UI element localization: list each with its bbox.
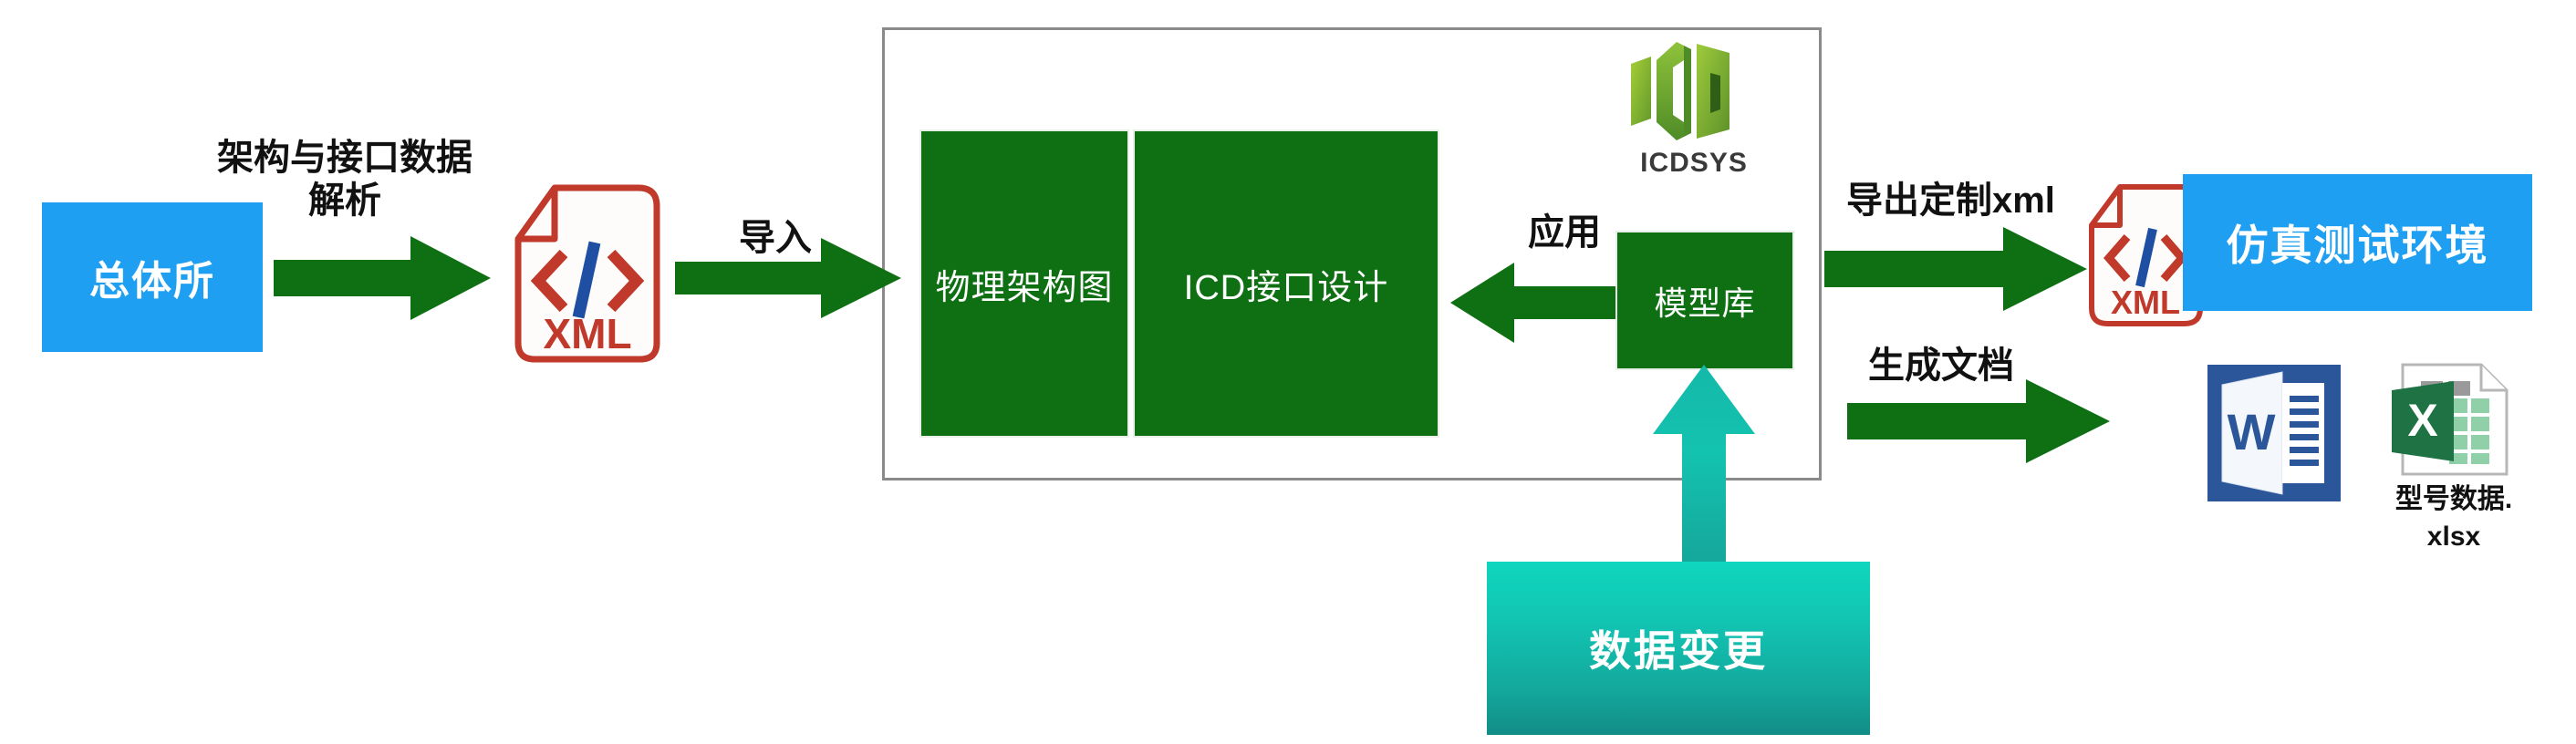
node-icd-interface[interactable]: ICD接口设计 bbox=[1133, 129, 1439, 438]
arrow-import bbox=[675, 232, 903, 324]
node-model-library[interactable]: 模型库 bbox=[1615, 231, 1794, 370]
icdsys-wordmark: ICDSYS bbox=[1640, 148, 1748, 178]
node-excel-doc-letter: X bbox=[2407, 395, 2437, 446]
node-sim-test-env-label: 仿真测试环境 bbox=[2227, 212, 2489, 273]
node-excel-doc-filename: 型号数据. xlsx bbox=[2372, 481, 2536, 555]
node-source-dept-label: 总体所 bbox=[89, 248, 215, 306]
node-excel-doc-filename-line1: 型号数据. bbox=[2372, 481, 2536, 519]
node-model-library-label: 模型库 bbox=[1654, 277, 1755, 325]
arrow-parse bbox=[274, 232, 493, 324]
edge-label-parse: 架构与接口数据 解析 bbox=[181, 137, 509, 222]
arrow-export-xml bbox=[1824, 223, 2089, 315]
node-data-change[interactable]: 数据变更 bbox=[1487, 562, 1870, 735]
icdsys-logo: ICDSYS bbox=[1616, 35, 1771, 181]
diagram-canvas: 总体所 架构与接口数据 解析 XML 导入 物理架构图 bbox=[0, 0, 2576, 744]
node-icd-interface-label: ICD接口设计 bbox=[1184, 259, 1388, 309]
arrow-apply bbox=[1449, 257, 1622, 348]
node-sim-test-env[interactable]: 仿真测试环境 bbox=[2183, 174, 2532, 311]
node-excel-doc-filename-line2: xlsx bbox=[2372, 519, 2536, 556]
node-word-doc-letter: W bbox=[2228, 403, 2276, 460]
arrow-data-change bbox=[1649, 363, 1759, 563]
node-data-change-label: 数据变更 bbox=[1589, 618, 1768, 678]
node-xml-output-caption: XML bbox=[2111, 284, 2180, 321]
node-source-dept[interactable]: 总体所 bbox=[42, 202, 263, 352]
node-xml-input-caption: XML bbox=[543, 310, 631, 357]
edge-label-apply-text: 应用 bbox=[1528, 212, 1601, 253]
edge-label-parse-line2: 解析 bbox=[181, 180, 509, 222]
node-physical-arch[interactable]: 物理架构图 bbox=[919, 129, 1129, 438]
edge-label-export-xml-text: 导出定制xml bbox=[1846, 181, 2055, 221]
edge-label-apply: 应用 bbox=[1496, 212, 1633, 254]
node-xml-input[interactable]: XML bbox=[511, 182, 666, 365]
node-word-doc[interactable]: W bbox=[2207, 365, 2341, 501]
node-excel-doc[interactable]: X bbox=[2383, 361, 2519, 480]
node-physical-arch-label: 物理架构图 bbox=[935, 259, 1113, 309]
edge-label-parse-line1: 架构与接口数据 bbox=[181, 137, 509, 180]
arrow-generate-doc bbox=[1847, 376, 2112, 467]
